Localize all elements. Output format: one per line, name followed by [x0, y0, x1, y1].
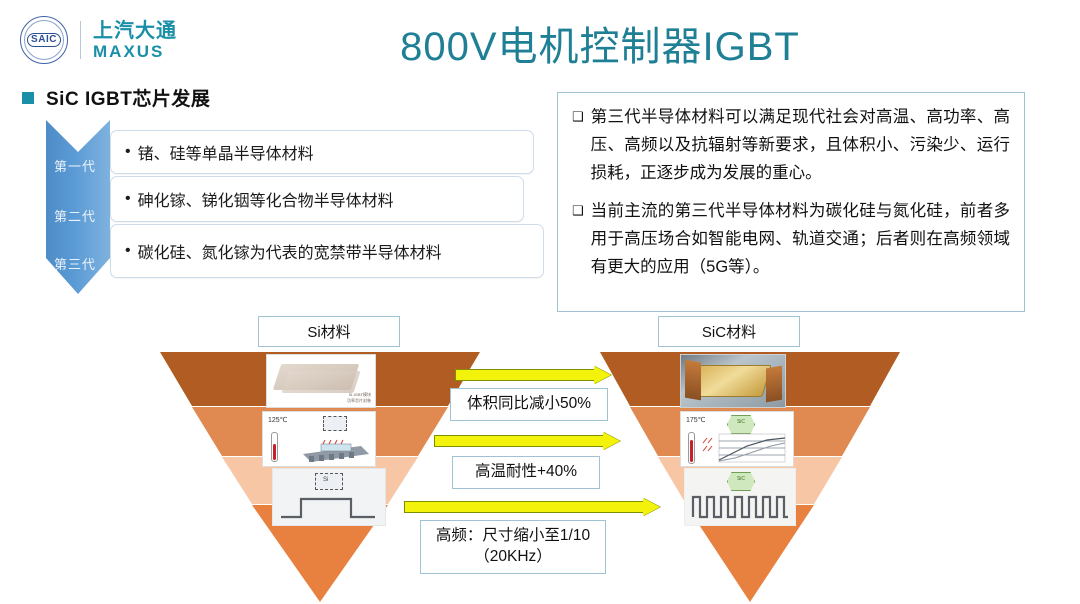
info-box: ❑ 第三代半导体材料可以满足现代社会对高温、高功率、高压、高频以及抗辐射等新要求… — [557, 92, 1025, 312]
info-paragraph-2: ❑ 当前主流的第三代半导体材料为碳化硅与氮化硅，前者多用于高压场合如智能电网、轨… — [572, 197, 1010, 281]
info-paragraph-1-text: 第三代半导体材料可以满足现代社会对高温、高功率、高压、高频以及抗辐射等新要求，且… — [591, 103, 1010, 187]
comparison-caption-3-line2: （20KHz） — [421, 547, 605, 568]
sic-material-label: SiC材料 — [658, 316, 800, 347]
comparison-arrow-2 — [434, 432, 620, 450]
generation-list: 第一代 第二代 第三代 • 锗、硅等单晶半导体材料 • 砷化镓、锑化铟等化合物半… — [32, 118, 532, 298]
saic-wordmark: SAIC — [27, 33, 61, 47]
comparison-arrow-1 — [455, 366, 611, 384]
comparison-arrow-3 — [404, 498, 660, 516]
page-title: 800V电机控制器IGBT — [350, 14, 850, 72]
maxus-logo: 上汽大通 MAXUS — [93, 21, 177, 60]
comparison-caption-1: 体积同比减小50% — [450, 388, 608, 421]
si-material-label: Si材料 — [258, 316, 400, 347]
info-paragraph-2-text: 当前主流的第三代半导体材料为碳化硅与氮化硅，前者多用于高压场合如智能电网、轨道交… — [591, 197, 1010, 281]
sic-module-photo — [680, 354, 786, 408]
generation-2-text: 砷化镓、锑化铟等化合物半导体材料 — [138, 187, 394, 211]
sic-square-wave-icon — [690, 489, 790, 521]
si-module-photo: Si-IGBT模块 功率芯片封装 — [266, 354, 376, 408]
comparison-caption-2: 高温耐性+40% — [452, 456, 600, 489]
generation-2-label: 第二代 — [38, 206, 112, 225]
brand-logo: SAIC 上汽大通 MAXUS — [20, 16, 177, 64]
generation-3-label: 第三代 — [38, 254, 112, 273]
hollow-square-bullet-icon: ❑ — [572, 103, 584, 187]
comparison-caption-3: 高频：尺寸缩小至1/10 （20KHz） — [420, 520, 606, 574]
si-device-label: Si — [323, 477, 328, 483]
si-temperature-value: 125℃ — [268, 416, 288, 424]
saic-circle-icon: SAIC — [20, 16, 68, 64]
slide-header: SAIC 上汽大通 MAXUS 800V电机控制器IGBT — [0, 0, 1080, 80]
sic-switching-waveform-image: SiC — [684, 468, 796, 526]
generation-3-text: 碳化硅、氮化镓为代表的宽禁带半导体材料 — [138, 239, 442, 263]
bullet-icon: • — [125, 143, 131, 161]
sic-temperature-value: 175℃ — [686, 416, 706, 424]
section-title: SiC IGBT芯片发展 — [46, 84, 210, 111]
generation-row-2[interactable]: • 砷化镓、锑化铟等化合物半导体材料 — [110, 176, 524, 222]
generation-1-text: 锗、硅等单晶半导体材料 — [138, 140, 314, 164]
logo-divider — [80, 21, 81, 59]
info-paragraph-1: ❑ 第三代半导体材料可以满足现代社会对高温、高功率、高压、高频以及抗辐射等新要求… — [572, 103, 1010, 187]
si-switching-waveform-image: Si — [272, 468, 386, 526]
maxus-chinese-name: 上汽大通 — [93, 21, 177, 41]
generation-row-1[interactable]: • 锗、硅等单晶半导体材料 — [110, 130, 534, 174]
bullet-icon: • — [125, 242, 131, 260]
generation-row-3[interactable]: • 碳化硅、氮化镓为代表的宽禁带半导体材料 — [110, 224, 544, 278]
generation-1-label: 第一代 — [38, 156, 112, 175]
si-thermal-test-image: 125℃ — [262, 411, 376, 467]
bullet-icon: • — [125, 190, 131, 208]
section-heading: SiC IGBT芯片发展 — [22, 84, 210, 111]
si-square-wave-icon — [279, 493, 379, 521]
maxus-english-name: MAXUS — [93, 43, 177, 60]
square-bullet-icon — [22, 92, 34, 104]
sic-thermal-curve-image: 175℃ SiC — [680, 411, 794, 467]
comparison-caption-3-line1: 高频：尺寸缩小至1/10 — [421, 526, 605, 547]
comparison-diagram: Si材料 Si-IGBT模块 功率芯片封装 125℃ — [0, 308, 1080, 604]
hollow-square-bullet-icon: ❑ — [572, 197, 584, 281]
